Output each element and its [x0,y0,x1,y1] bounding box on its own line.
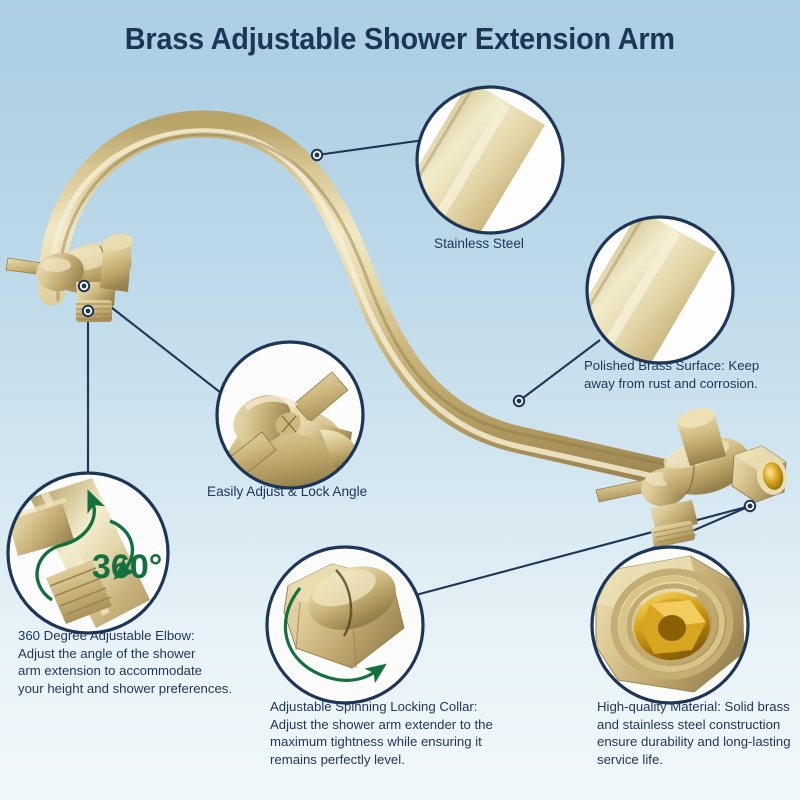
left-elbow-knuckle-hl [41,258,71,272]
callout-text-locking-collar: Adjustable Spinning Locking Collar: Adju… [270,698,565,768]
infographic-canvas: Brass Adjustable Shower Extension Arm [0,0,800,800]
callout-dot-stainless [311,149,323,161]
magnifier-circle-hex-nut [267,547,423,703]
callout-label-stainless-steel: Stainless Steel [434,236,524,251]
magnifier-circle-cross-handle [217,342,363,495]
magnifier-circle-polished-brass [568,202,733,375]
callout-dot-polished [513,395,525,407]
callout-dot-elbow [82,305,94,317]
magnifier-circle-360-elbow: 360° [8,473,168,633]
magnifier-circle-threaded-fitting [592,547,748,703]
magnifier-circle-stainless [395,72,563,250]
leader-line-stainless [317,140,424,155]
callout-dot-lock-angle [78,280,90,292]
callout-label-lock-angle: Easily Adjust & Lock Angle [207,484,367,499]
callout-text-high-quality-material: High-quality Material: Solid brass and s… [597,698,797,768]
callout-dot-outlet [744,500,756,512]
callout-text-360-elbow: 360 Degree Adjustable Elbow: Adjust the … [18,627,263,697]
badge-360: 360° [92,548,162,586]
left-swivel-elbow [6,232,136,322]
callout-text-polished-brass: Polished Brass Surface: Keep away from r… [584,357,799,392]
